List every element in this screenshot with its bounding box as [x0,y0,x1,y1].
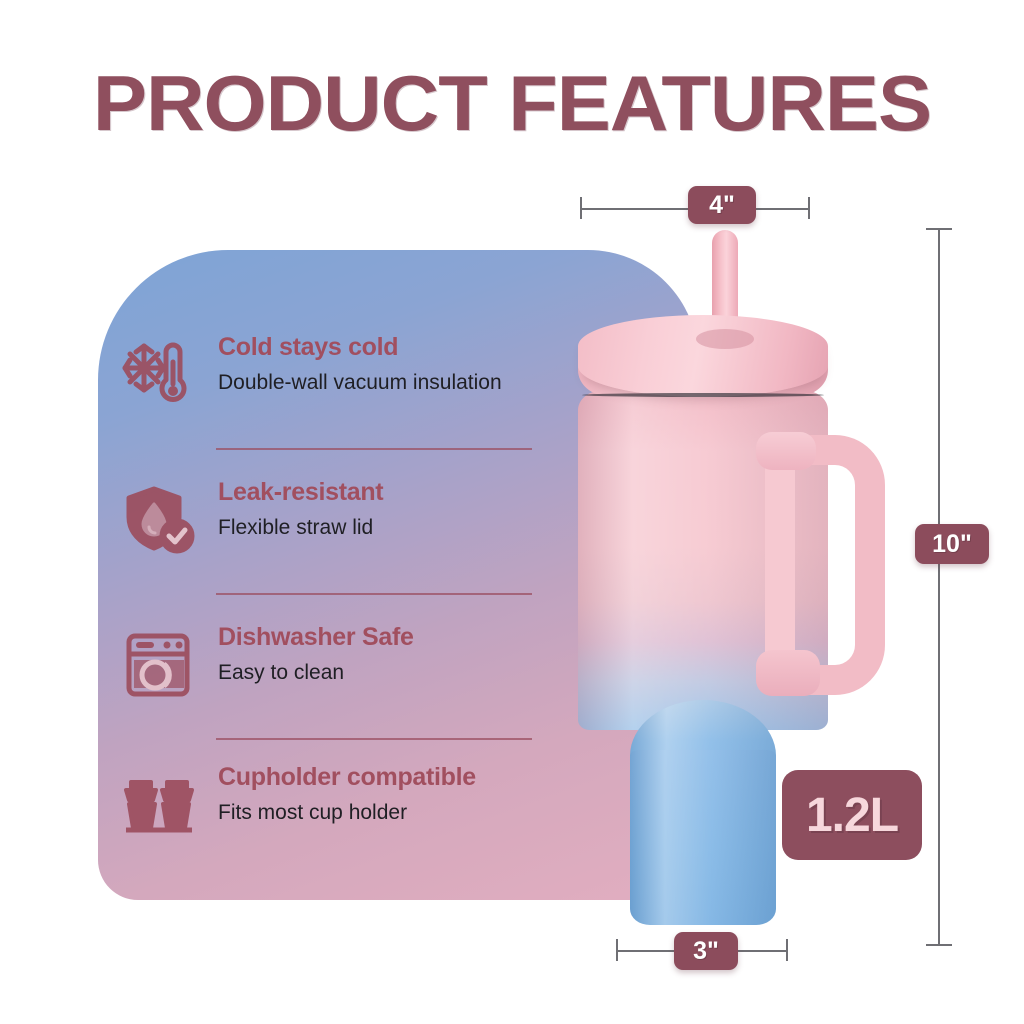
cupholder-cups-icon [122,768,196,842]
feature-divider [216,448,532,450]
height-tick-bottom [926,944,952,946]
page-title: PRODUCT FEATURES [0,58,1024,149]
straw-hole [696,329,754,349]
height-dimension-line [938,228,940,946]
handle-top-joint [756,432,816,470]
snowflake-thermometer-icon [122,338,196,412]
feature-divider [216,593,532,595]
handle-bottom-joint [756,650,820,696]
height-tick-top [926,228,952,230]
depth-tick-left [616,939,618,961]
dishwasher-icon [122,628,196,702]
width-tick-left [580,197,582,219]
tumbler-lid [578,315,828,397]
width-badge: 4" [688,186,756,224]
depth-tick-right [786,939,788,961]
product-features-infographic: PRODUCT FEATURES Co [0,0,1024,1024]
width-tick-right [808,197,810,219]
volume-badge: 1.2L [782,770,922,860]
lid-seam [582,393,824,397]
depth-badge: 3" [674,932,738,970]
height-badge: 10" [915,524,989,564]
feature-divider [216,738,532,740]
shield-droplet-check-icon [122,483,196,557]
tumbler-base [630,750,776,925]
